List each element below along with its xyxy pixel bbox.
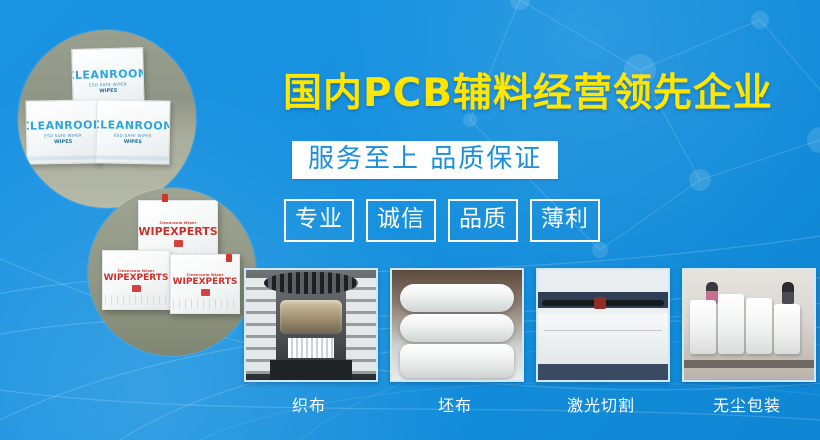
bale-red-tag [162, 194, 168, 202]
product-photo-cleanroom: CLEANROOM ESD SAFE WIPER WIPES CLEANROOM… [18, 30, 196, 208]
cleanroom-pack: CLEANROOM ESD SAFE WIPER WIPES [95, 99, 170, 164]
process-item-laser-cutting: 激光切割 [536, 268, 666, 416]
bale-logo-mark [132, 285, 141, 292]
bale-logo-mark [201, 289, 210, 296]
wipexperts-photo-scene: Cleanroom Wiper WIPEXPERTS Cleanroom Wip… [88, 188, 256, 356]
packing-room-scene [684, 270, 814, 380]
wipes-stack [774, 304, 800, 354]
bale-brand-label: WIPEXPERTS [138, 225, 217, 238]
process-thumbnail-image [390, 268, 524, 382]
banner-subtitle: 服务至上 品质保证 [308, 145, 542, 174]
pack-strip [97, 155, 169, 160]
process-caption: 无尘包装 [682, 392, 812, 416]
machine-needle-ring [264, 272, 358, 294]
process-item-cleanroom-packing: 无尘包装 [682, 268, 812, 416]
banner-subtitle-bar: 服务至上 品质保证 [292, 141, 558, 179]
wipes-stack [718, 294, 744, 354]
bale-fold-lines [173, 299, 237, 309]
wipes-stack [690, 300, 716, 354]
fabric-roll [400, 284, 514, 312]
machine-foot [538, 364, 668, 380]
process-thumbnail-image [244, 268, 378, 382]
feature-tag-quality: 品质 [448, 199, 518, 242]
process-thumbnail-image [536, 268, 670, 382]
wipexperts-bale: Cleanroom Wiper WIPEXPERTS [170, 254, 240, 314]
bale-brand-label: WIPEXPERTS [173, 277, 238, 287]
knitted-fabric [288, 338, 334, 358]
process-caption: 坯布 [390, 392, 520, 416]
pack-brand-label: CLEANROOM [71, 67, 145, 82]
pack-strip [27, 155, 99, 160]
knitting-machine-scene [246, 270, 376, 380]
bale-red-tag [226, 254, 232, 262]
wipes-stack [746, 298, 772, 354]
cutting-bed-seam [544, 330, 662, 331]
bale-fold-lines [105, 295, 167, 305]
machine-drum [280, 300, 342, 334]
process-caption: 织布 [244, 392, 374, 416]
pack-brand-label: CLEANROOM [95, 118, 170, 132]
cleanroom-pack: CLEANROOM ESD SAFE WIPER WIPES [25, 99, 100, 164]
feature-tag-professional: 专业 [284, 199, 354, 242]
feature-tag-low-margin: 薄利 [530, 199, 600, 242]
product-photo-wipexperts: Cleanroom Wiper WIPEXPERTS Cleanroom Wip… [88, 188, 256, 356]
banner-headline: 国内PCB辅料经营领先企业 [283, 74, 783, 113]
fabric-roll [400, 314, 514, 342]
laser-cutter-scene [538, 270, 668, 380]
pack-subline: ESD SAFE WIPER [89, 82, 127, 88]
fabric-roll [400, 344, 514, 378]
pack-subline: ESD SAFE WIPER [44, 133, 82, 139]
packing-table [684, 360, 814, 368]
pack-wipes-label: WIPES [99, 88, 117, 94]
bale-logo-mark [174, 240, 183, 247]
feature-tag-list: 专业 诚信 品质 薄利 [284, 199, 600, 242]
bale-brand-label: WIPEXPERTS [104, 273, 169, 283]
pack-wipes-label: WIPES [54, 139, 72, 145]
room-wall [538, 270, 668, 292]
cutting-bed [538, 314, 668, 366]
promo-banner: CLEANROOM ESD SAFE WIPER WIPES CLEANROOM… [0, 0, 820, 440]
process-item-weaving: 织布 [244, 268, 374, 416]
machine-base [270, 360, 352, 380]
pack-subline: ESD SAFE WIPER [114, 133, 152, 139]
process-thumbnail-row: 织布 坯布 [244, 268, 812, 416]
process-thumbnail-image [682, 268, 816, 382]
pack-brand-label: CLEANROOM [25, 118, 100, 132]
wipexperts-bale: Cleanroom Wiper WIPEXPERTS [102, 250, 170, 310]
feature-tag-integrity: 诚信 [366, 199, 436, 242]
worker-figure [782, 282, 794, 304]
pack-wipes-label: WIPES [124, 139, 142, 145]
process-item-greige-fabric: 坯布 [390, 268, 520, 416]
laser-head [594, 297, 606, 309]
fabric-rolls-scene [392, 270, 522, 380]
cleanroom-photo-scene: CLEANROOM ESD SAFE WIPER WIPES CLEANROOM… [18, 30, 196, 208]
process-caption: 激光切割 [536, 392, 666, 416]
